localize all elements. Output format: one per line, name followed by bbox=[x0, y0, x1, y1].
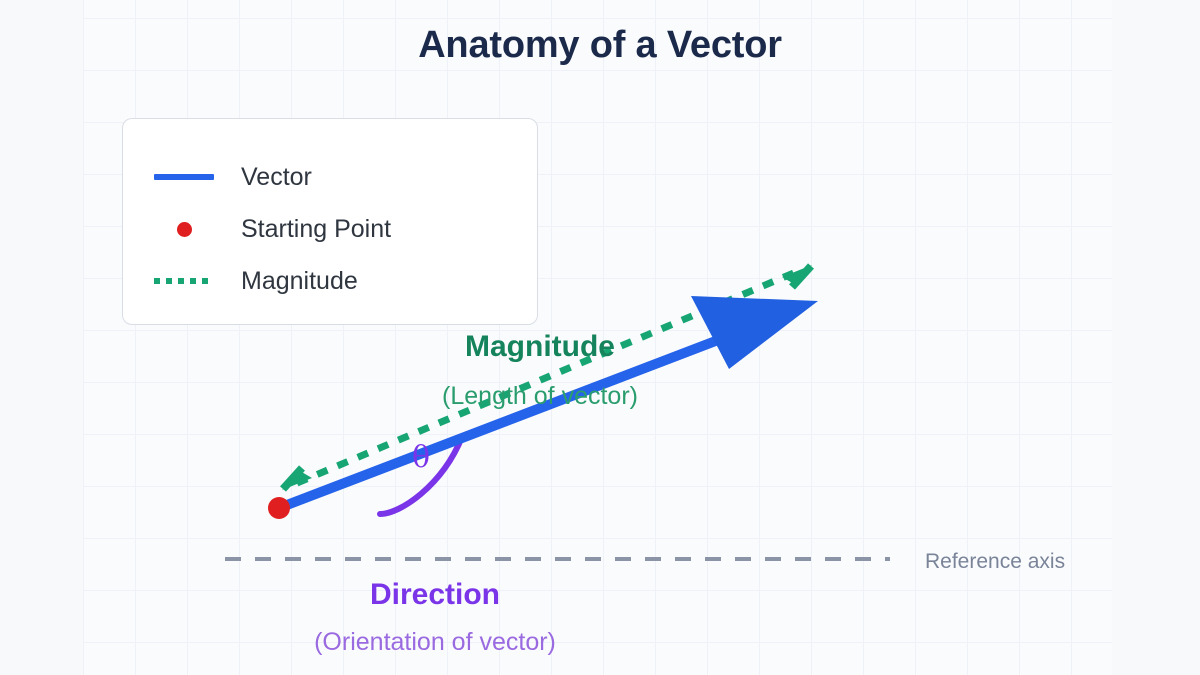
legend-item-starting-point[interactable]: Starting Point bbox=[147, 203, 537, 255]
legend-key-magnitude bbox=[147, 278, 221, 284]
direction-annotation-title: Direction bbox=[235, 578, 635, 612]
direction-annotation-subtitle: (Orientation of vector) bbox=[235, 628, 635, 657]
reference-axis-label: Reference axis bbox=[925, 550, 1155, 574]
starting-point-dot bbox=[268, 497, 290, 519]
diagram-canvas: Anatomy of a Vector θ Magnitude (Length … bbox=[0, 0, 1200, 675]
magnitude-annotation-subtitle: (Length of vector) bbox=[340, 382, 740, 411]
magnitude-dotted-line-icon bbox=[154, 278, 214, 284]
legend-key-starting-point bbox=[147, 222, 221, 237]
legend-label-vector: Vector bbox=[241, 163, 312, 192]
magnitude-annotation-title: Magnitude bbox=[340, 330, 740, 364]
legend-label-magnitude: Magnitude bbox=[241, 267, 358, 296]
legend-key-vector bbox=[147, 174, 221, 180]
starting-point-dot-icon bbox=[177, 222, 192, 237]
legend-box: Vector Starting Point Magnitude bbox=[122, 118, 538, 325]
legend-label-starting-point: Starting Point bbox=[241, 215, 391, 244]
vector-line-icon bbox=[154, 174, 214, 180]
legend-item-magnitude[interactable]: Magnitude bbox=[147, 255, 537, 307]
legend-item-vector[interactable]: Vector bbox=[147, 151, 537, 203]
angle-theta-symbol: θ bbox=[404, 440, 438, 475]
